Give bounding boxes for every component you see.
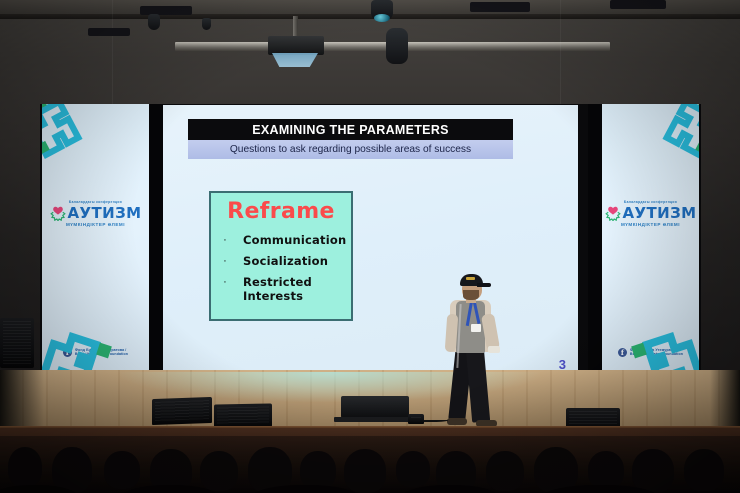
slide-title-bar: EXAMINING THE PARAMETERS xyxy=(188,119,513,140)
presenter-cap-logo xyxy=(466,277,475,280)
audience-head xyxy=(588,451,624,489)
audience-head xyxy=(344,449,386,493)
ceiling-light-bar xyxy=(140,6,192,15)
stage-light xyxy=(202,18,211,30)
stage-light xyxy=(148,14,160,30)
bullet-icon: · xyxy=(217,275,233,289)
audience-head xyxy=(8,447,42,487)
audience-head xyxy=(300,451,336,489)
list-item: · Restricted Interests xyxy=(217,275,347,303)
brand-lockup: Балалардағы конференция АУТИЗМ МҮМКІНДІК… xyxy=(42,200,149,227)
ceiling-light-bar xyxy=(88,28,130,36)
list-item-label: Communication xyxy=(233,233,346,247)
slide-subtitle: Questions to ask regarding possible area… xyxy=(230,144,471,155)
audience xyxy=(0,436,740,493)
stage-monitor-wedge xyxy=(152,397,212,425)
screen-bezel-gap xyxy=(588,104,602,379)
presentation-slide: EXAMINING THE PARAMETERS Questions to as… xyxy=(163,105,578,378)
list-item: · Communication xyxy=(217,233,347,247)
content-box-heading: Reframe xyxy=(211,199,351,224)
autism-ornament-logo-icon xyxy=(605,205,621,221)
projector-mount xyxy=(293,16,298,38)
audience-head xyxy=(200,451,238,491)
led-screen-wall: Балалардағы конференция АУТИЗМ МҮМКІНДІК… xyxy=(40,104,701,379)
laptop-base xyxy=(334,417,416,422)
auditorium-scene: Балалардағы конференция АУТИЗМ МҮМКІНДІК… xyxy=(0,0,740,493)
reframe-content-box: Reframe · Communication · Socialization … xyxy=(209,191,353,321)
screen-bezel-gap xyxy=(149,104,163,379)
audience-head xyxy=(486,451,524,491)
ceiling-light-bar xyxy=(470,2,530,12)
presenter-clicker xyxy=(488,346,500,353)
brand-lockup: Балалардағы конференция АУТИЗМ МҮМКІНДІК… xyxy=(602,200,699,227)
ornament-icon xyxy=(42,104,112,172)
right-brand-panel: Балалардағы конференция АУТИЗМ МҮМКІНДІК… xyxy=(602,104,699,379)
autism-ornament-logo-icon xyxy=(50,205,66,221)
stage-light xyxy=(386,28,408,64)
ceiling-projector xyxy=(268,36,324,55)
audience-head xyxy=(104,451,140,489)
slide-title: EXAMINING THE PARAMETERS xyxy=(252,123,449,137)
list-item-label: Socialization xyxy=(233,254,328,268)
stage-light-lens xyxy=(374,14,390,22)
stage-shadow-left xyxy=(0,370,44,432)
presenter-leg xyxy=(466,347,490,422)
audience-head xyxy=(684,449,724,491)
bullet-icon: · xyxy=(217,233,233,247)
brand-wordmark: АУТИЗМ xyxy=(623,206,697,221)
bullet-list: · Communication · Socialization · Restri… xyxy=(217,233,347,310)
side-speaker-stack xyxy=(0,318,34,368)
stage-power-box xyxy=(408,414,424,424)
ceiling-light-bar xyxy=(610,0,666,9)
presenter-cap-brim xyxy=(477,283,491,287)
ceiling-rail xyxy=(0,14,740,19)
bullet-icon: · xyxy=(217,254,233,268)
stage-shadow-right xyxy=(710,370,740,432)
left-brand-panel: Балалардағы конференция АУТИЗМ МҮМКІНДІК… xyxy=(42,104,149,379)
presenter xyxy=(444,270,500,430)
audience-head xyxy=(632,449,674,493)
presenter-shoe xyxy=(447,418,467,425)
presenter-badge xyxy=(471,324,481,332)
laptop[interactable] xyxy=(341,396,409,418)
slide-subtitle-bar: Questions to ask regarding possible area… xyxy=(188,140,513,159)
ornament-icon xyxy=(633,104,699,172)
audience-head xyxy=(396,451,430,487)
brand-tagline-bottom: МҮМКІНДІКТЕР ӘЛЕМІ xyxy=(42,222,149,227)
brand-wordmark: АУТИЗМ xyxy=(68,206,142,221)
brand-tagline-bottom: МҮМКІНДІКТЕР ӘЛЕМІ xyxy=(602,222,699,227)
list-item: · Socialization xyxy=(217,254,347,268)
presenter-beard xyxy=(463,290,479,300)
list-item-label: Restricted Interests xyxy=(233,275,329,303)
stage-monitor-wedge xyxy=(214,403,272,427)
